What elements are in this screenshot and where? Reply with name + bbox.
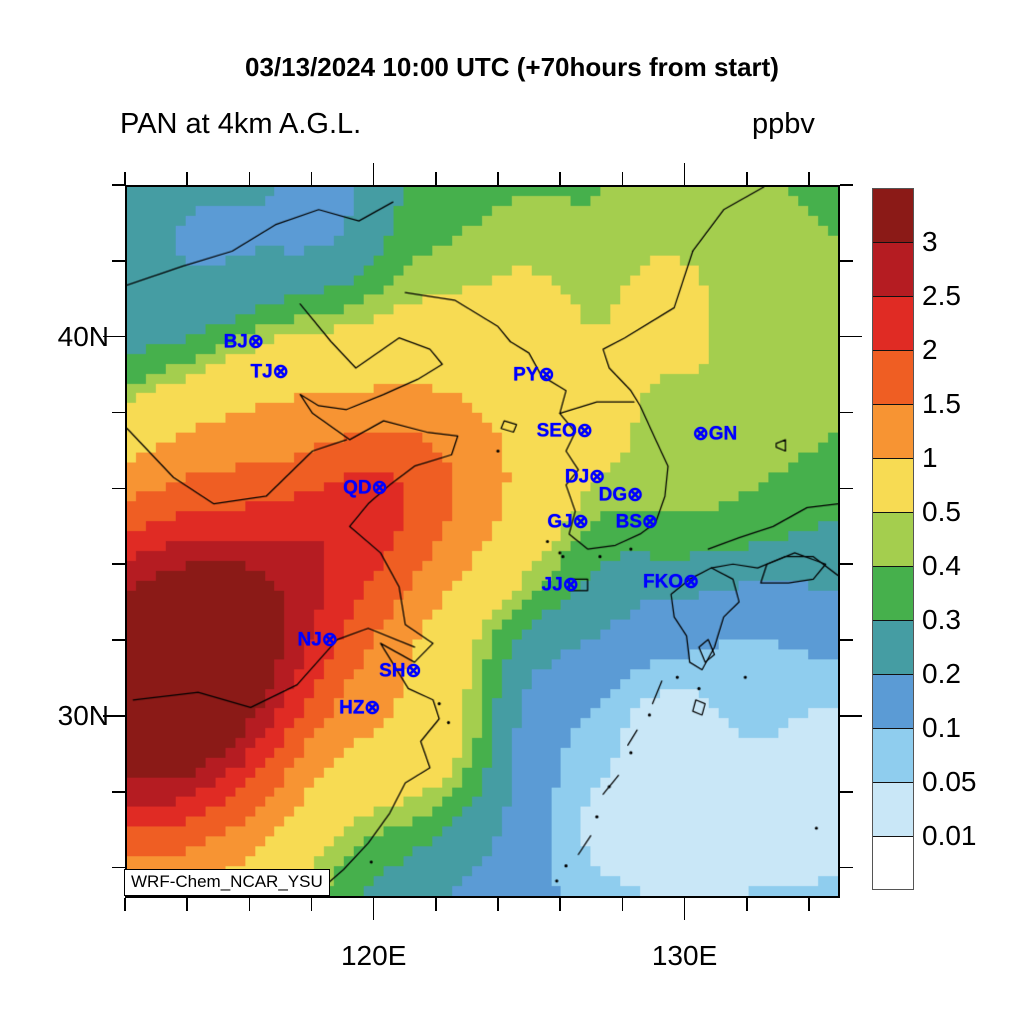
x-tick xyxy=(622,898,624,911)
colorbar-tick-label: 0.5 xyxy=(922,496,961,528)
x-tick xyxy=(497,898,499,911)
colorbar-band-7 xyxy=(873,567,913,621)
x-tick xyxy=(808,172,810,185)
colorbar-band-2 xyxy=(873,297,913,351)
x-axis-label: 130E xyxy=(652,940,717,972)
colorbar-tick-label: 1 xyxy=(922,442,938,474)
city-marker-sh: SH⊗ xyxy=(379,662,421,681)
city-marker-seo: SEO⊗ xyxy=(537,421,593,440)
colorbar-band-6 xyxy=(873,513,913,567)
y-tick xyxy=(112,412,125,414)
colorbar-band-8 xyxy=(873,621,913,675)
colorbar-band-9 xyxy=(873,675,913,729)
city-marker-bj: BJ⊗ xyxy=(224,333,264,352)
y-tick xyxy=(112,791,125,793)
x-tick xyxy=(497,172,499,185)
city-marker-tj: TJ⊗ xyxy=(251,362,289,381)
y-tick xyxy=(840,791,853,793)
y-axis-label: 40N xyxy=(18,321,109,353)
colorbar-band-0 xyxy=(873,189,913,243)
colorbar-tick-label: 0.4 xyxy=(922,550,961,582)
city-marker-dj: DJ⊗ xyxy=(565,468,605,487)
y-tick xyxy=(112,260,125,262)
x-tick xyxy=(622,172,624,185)
x-tick xyxy=(311,172,313,185)
x-tick xyxy=(684,163,686,185)
colorbar-tick-label: 0.3 xyxy=(922,604,961,636)
x-tick xyxy=(435,898,437,911)
colorbar-tick-label: 2 xyxy=(922,334,938,366)
x-tick xyxy=(435,172,437,185)
x-tick xyxy=(186,172,188,185)
units-label: ppbv xyxy=(752,108,815,141)
colorbar-band-12 xyxy=(873,837,913,890)
y-tick xyxy=(112,563,125,565)
y-tick xyxy=(840,715,862,717)
y-tick xyxy=(840,336,862,338)
y-axis-label: 30N xyxy=(18,700,109,732)
colorbar-band-4 xyxy=(873,405,913,459)
x-tick xyxy=(249,898,251,911)
x-tick xyxy=(684,898,686,920)
x-tick xyxy=(373,898,375,920)
y-tick xyxy=(840,412,853,414)
y-tick xyxy=(840,639,853,641)
x-tick xyxy=(746,898,748,911)
colorbar-band-10 xyxy=(873,729,913,783)
x-tick xyxy=(124,172,126,185)
city-marker-fko: FKO⊗ xyxy=(643,572,699,591)
x-axis-label: 120E xyxy=(341,940,406,972)
y-tick xyxy=(112,184,125,186)
y-tick xyxy=(112,639,125,641)
y-tick xyxy=(112,488,125,490)
colorbar-tick-label: 0.01 xyxy=(922,820,977,852)
city-marker-bs: BS⊗ xyxy=(616,512,658,531)
x-tick xyxy=(746,172,748,185)
city-marker-jj: JJ⊗ xyxy=(542,576,579,595)
colorbar-band-3 xyxy=(873,351,913,405)
city-marker-nj: NJ⊗ xyxy=(298,630,338,649)
coastline-overlay-canvas xyxy=(127,187,838,896)
map-plot-area[interactable]: BJ⊗TJ⊗QD⊗NJ⊗SH⊗HZ⊗PY⊗SEO⊗DJ⊗DG⊗GJ⊗BS⊗JJ⊗… xyxy=(125,185,840,898)
colorbar-tick-label: 0.05 xyxy=(922,766,977,798)
y-tick xyxy=(840,867,853,869)
colorbar-band-5 xyxy=(873,459,913,513)
x-tick xyxy=(559,172,561,185)
colorbar-band-11 xyxy=(873,783,913,837)
colorbar-tick-label: 0.1 xyxy=(922,712,961,744)
x-tick xyxy=(249,172,251,185)
city-marker-gn: ⊗GN xyxy=(693,425,737,444)
colorbar-tick-label: 1.5 xyxy=(922,388,961,420)
y-tick xyxy=(840,488,853,490)
city-marker-dg: DG⊗ xyxy=(599,486,643,505)
x-tick xyxy=(186,898,188,911)
y-tick xyxy=(840,184,853,186)
y-tick xyxy=(840,563,853,565)
city-marker-hz: HZ⊗ xyxy=(339,698,380,717)
colorbar-band-1 xyxy=(873,243,913,297)
city-marker-py: PY⊗ xyxy=(513,366,554,385)
colorbar-tick-label: 2.5 xyxy=(922,280,961,312)
x-tick xyxy=(373,163,375,185)
chart-subtitle: PAN at 4km A.G.L. xyxy=(120,108,361,141)
colorbar-tick-label: 0.2 xyxy=(922,658,961,690)
city-marker-gj: GJ⊗ xyxy=(547,513,588,532)
colorbar-tick-label: 3 xyxy=(922,226,938,258)
x-tick xyxy=(808,898,810,911)
x-tick xyxy=(124,898,126,911)
x-tick xyxy=(311,898,313,911)
model-tag: WRF-Chem_NCAR_YSU xyxy=(124,869,330,896)
y-tick xyxy=(840,260,853,262)
page-title: 03/13/2024 10:00 UTC (+70hours from star… xyxy=(0,52,1024,83)
x-tick xyxy=(559,898,561,911)
city-marker-qd: QD⊗ xyxy=(343,478,387,497)
colorbar[interactable] xyxy=(872,188,914,890)
